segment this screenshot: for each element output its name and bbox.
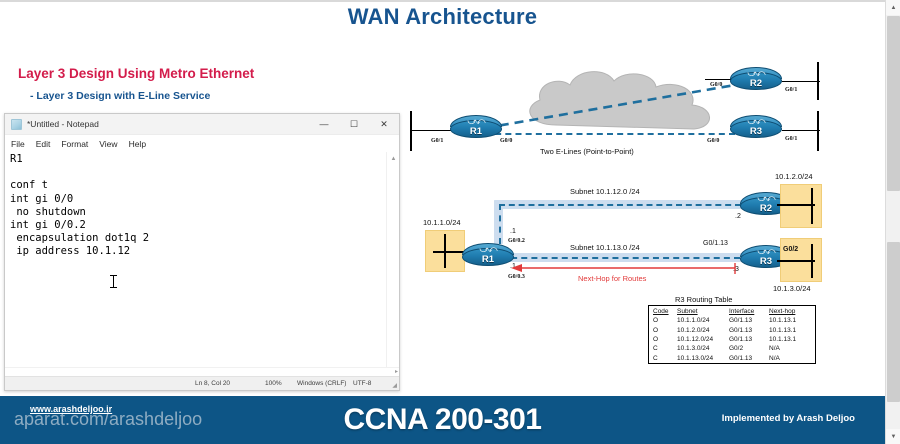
r2-top-if-left: G0/0 xyxy=(710,82,722,88)
bottom-banner: aparat.com/arashdeljoo www.arashdeljoo.i… xyxy=(0,396,885,444)
r3-if-right: G0/2 xyxy=(783,246,798,253)
page-title: WAN Architecture xyxy=(0,4,885,30)
menu-edit[interactable]: Edit xyxy=(36,139,51,149)
router-r3-top: ⤻⤺ R3 xyxy=(730,115,782,141)
cell-next-hop: N/A xyxy=(765,354,815,363)
scroll-up-icon[interactable]: ▲ xyxy=(886,0,900,15)
cell-next-hop: N/A xyxy=(765,344,815,353)
cell-code: O xyxy=(649,316,673,325)
r2-top-if-right: G0/1 xyxy=(785,87,797,93)
scroll-track[interactable] xyxy=(887,191,900,242)
routing-table: Code Subnet Interface Next-hop O 10.1.1.… xyxy=(648,305,816,364)
r2-lan-hbar xyxy=(777,204,815,206)
status-encoding: UTF-8 xyxy=(353,380,371,387)
next-hop-label: Next-Hop for Routes xyxy=(578,274,646,283)
table-header-row: Code Subnet Interface Next-hop xyxy=(649,306,815,316)
r1-top-if-left: G0/1 xyxy=(431,138,443,144)
table-row: O 10.1.12.0/24 G0/1.13 10.1.13.1 xyxy=(649,335,815,344)
routing-table-caption: R3 Routing Table xyxy=(675,295,732,304)
table-row: O 10.1.2.0/24 G0/1.13 10.1.13.1 xyxy=(649,325,815,334)
cell-subnet: 10.1.2.0/24 xyxy=(673,325,725,334)
notepad-title-text: *Untitled - Notepad xyxy=(27,119,309,129)
router-label: R1 xyxy=(450,126,502,137)
cell-subnet: 10.1.1.0/24 xyxy=(673,316,725,325)
r3-if-left: G0/1.13 xyxy=(703,240,728,247)
cell-subnet: 10.1.3.0/24 xyxy=(673,344,725,353)
r1-top-if-right: G0/0 xyxy=(500,138,512,144)
page-scrollbar[interactable]: ▲ ▼ xyxy=(885,0,900,444)
table-row: C 10.1.13.0/24 G0/1.13 N/A xyxy=(649,354,815,363)
cell-code: C xyxy=(649,354,673,363)
cell-interface: G0/1.13 xyxy=(725,316,765,325)
close-button[interactable]: ✕ xyxy=(369,114,399,135)
scroll-thumb-lower[interactable] xyxy=(887,242,900,402)
cell-code: O xyxy=(649,325,673,334)
table-row: O 10.1.1.0/24 G0/1.13 10.1.13.1 xyxy=(649,316,815,325)
minimize-button[interactable]: — xyxy=(309,114,339,135)
r1-lan-subnet-label: 10.1.1.0/24 xyxy=(423,218,461,227)
link-r1-r3-dash xyxy=(501,257,740,259)
cell-next-hop: 10.1.13.1 xyxy=(765,325,815,334)
cell-code: C xyxy=(649,344,673,353)
router-r2-top: ⤻⤺ R2 xyxy=(730,67,782,93)
notepad-horizontal-scrollbar[interactable]: ▸ xyxy=(5,367,399,376)
notepad-menubar: File Edit Format View Help xyxy=(5,135,399,152)
r1-ip-top: .1 xyxy=(510,228,516,235)
subnet-label-10-1-13: Subnet 10.1.13.0 /24 xyxy=(570,243,640,252)
subnet-label-10-1-12: Subnet 10.1.12.0 /24 xyxy=(570,187,640,196)
notepad-editor-area[interactable]: R1 conf t int gi 0/0 no shutdown int gi … xyxy=(5,152,399,367)
router-label: R3 xyxy=(730,126,782,137)
text-cursor xyxy=(113,276,114,287)
r2-lan-bar xyxy=(817,62,819,100)
th-interface: Interface xyxy=(725,306,765,316)
eline-r1-r2 xyxy=(405,55,875,160)
r2-lan-link xyxy=(782,81,820,82)
eline-r1-r3 xyxy=(485,133,735,135)
notepad-statusbar: Ln 8, Col 20 100% Windows (CRLF) UTF-8 ◢ xyxy=(5,376,399,390)
r3-top-if-left: G0/0 xyxy=(707,138,719,144)
r3-lan-vbar xyxy=(811,244,813,278)
slide-viewer: WAN Architecture Layer 3 Design Using Me… xyxy=(0,0,900,444)
r3-lan-bar xyxy=(817,111,819,151)
cell-code: O xyxy=(649,335,673,344)
scroll-down-icon[interactable]: ▼ xyxy=(886,429,900,444)
r2-ip: .2 xyxy=(735,213,741,220)
notepad-titlebar[interactable]: *Untitled - Notepad — ☐ ✕ xyxy=(5,114,399,135)
menu-file[interactable]: File xyxy=(11,139,25,149)
notepad-text-content[interactable]: R1 conf t int gi 0/0 no shutdown int gi … xyxy=(5,152,386,367)
section-subheading: - Layer 3 Design with E-Line Service xyxy=(30,90,210,102)
th-subnet: Subnet xyxy=(673,306,725,316)
section-heading: Layer 3 Design Using Metro Ethernet xyxy=(18,66,254,81)
r2-lan-subnet-label: 10.1.2.0/24 xyxy=(775,172,813,181)
status-line-ending: Windows (CRLF) xyxy=(297,380,346,387)
th-next-hop: Next-hop xyxy=(765,306,815,316)
menu-format[interactable]: Format xyxy=(61,139,88,149)
notepad-window[interactable]: *Untitled - Notepad — ☐ ✕ File Edit Form… xyxy=(4,113,400,391)
scroll-up-icon[interactable]: ▲ xyxy=(387,153,400,165)
diagram-layer3-design: 10.1.1.0/24 Subnet 10.1.12.0 /24 Subnet … xyxy=(415,170,835,300)
scroll-right-icon[interactable]: ▸ xyxy=(395,368,398,375)
status-cursor-position: Ln 8, Col 20 xyxy=(195,380,230,387)
cell-interface: G0/1.13 xyxy=(725,335,765,344)
cell-interface: G0/1.13 xyxy=(725,354,765,363)
cell-interface: G0/1.13 xyxy=(725,325,765,334)
th-code: Code xyxy=(649,306,673,316)
menu-help[interactable]: Help xyxy=(129,139,146,149)
cell-subnet: 10.1.12.0/24 xyxy=(673,335,725,344)
menu-view[interactable]: View xyxy=(99,139,117,149)
cell-interface: G0/2 xyxy=(725,344,765,353)
router-label: R2 xyxy=(730,78,782,89)
diagram-top-caption: Two E-Lines (Point-to-Point) xyxy=(540,147,634,156)
credits-text: Implemented by Arash Deljoo xyxy=(722,413,855,424)
r3-lan-link xyxy=(782,130,820,131)
r2-lan-box xyxy=(780,184,822,228)
status-zoom-level: 100% xyxy=(265,380,282,387)
top-divider xyxy=(0,0,900,2)
link-r1-r2-dash-vertical xyxy=(499,204,501,244)
scroll-thumb-upper[interactable] xyxy=(887,16,900,191)
router-r1-top: ⤻⤺ R1 xyxy=(450,115,502,141)
r2-lan-vbar xyxy=(811,188,813,224)
notepad-app-icon xyxy=(11,119,22,130)
resize-grip-icon[interactable]: ◢ xyxy=(392,382,397,389)
notepad-vertical-scrollbar[interactable]: ▲ xyxy=(386,152,399,367)
cell-next-hop: 10.1.13.1 xyxy=(765,335,815,344)
cell-next-hop: 10.1.13.1 xyxy=(765,316,815,325)
table-row: C 10.1.3.0/24 G0/2 N/A xyxy=(649,344,815,353)
link-r1-r2-dash-horizontal xyxy=(499,204,741,206)
diagram-two-elines: ⤻⤺ R1 G0/1 G0/0 ⤻⤺ R2 G0/0 G0/1 ⤻⤺ R3 G0… xyxy=(405,55,875,160)
cell-subnet: 10.1.13.0/24 xyxy=(673,354,725,363)
r1-if-top: G0/0.2 xyxy=(508,238,525,244)
maximize-button[interactable]: ☐ xyxy=(339,114,369,135)
r3-top-if-right: G0/1 xyxy=(785,136,797,142)
r3-lan-subnet-label: 10.1.3.0/24 xyxy=(773,284,811,293)
r3-lan-hbar xyxy=(777,260,815,262)
